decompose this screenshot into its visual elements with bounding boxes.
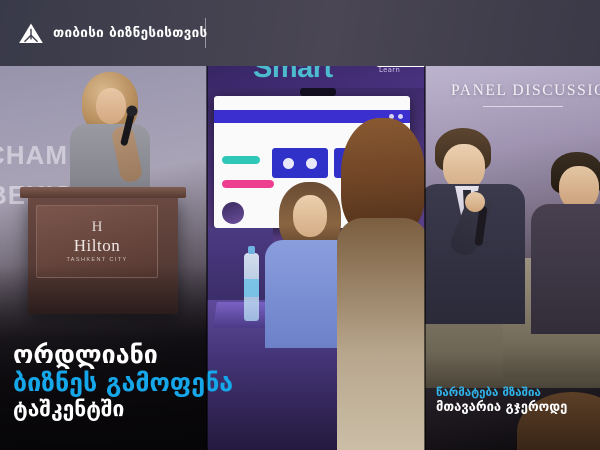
panel-discussion: PANEL DISCUSSIO წარმატება მზაშია მთავარი… — [425, 0, 600, 450]
speaker-face — [96, 88, 126, 124]
screen-avatar — [222, 202, 244, 224]
hilton-h-monogram-icon: H — [92, 220, 103, 235]
panel-discussion-underline — [483, 106, 563, 107]
headline-line3: ტაშკენტში — [13, 397, 233, 422]
host-face — [293, 195, 327, 237]
tbc-brand-block[interactable]: თიბისი ბიზნესისთვის — [0, 22, 208, 45]
water-bottle — [244, 253, 259, 321]
header-divider-icon — [205, 18, 206, 48]
panel-seam-left — [206, 0, 208, 450]
visitor-coat — [337, 218, 425, 450]
panel-seam-right — [424, 0, 426, 450]
right-caption-line1: წარმატება მზაშია — [436, 385, 600, 399]
hilton-location: TASHKENT CITY — [66, 257, 127, 263]
panel-discussion-title: PANEL DISCUSSIO — [451, 82, 600, 100]
right-panel-caption: წარმატება მზაშია მთავარია გჯეროდე — [436, 385, 600, 416]
screen-card-left — [272, 148, 328, 178]
panel-expo-booth: SALES ASSOCIATION Smart — [207, 0, 425, 450]
headline-line1: ორდლიანი — [13, 341, 233, 369]
tbc-triangle-logo-icon — [18, 22, 44, 45]
headline-line2: ბიზნეს გამოფენა — [13, 369, 233, 397]
tbc-brand-label: თიბისი ბიზნესისთვის — [53, 25, 208, 41]
monitor-stand — [300, 88, 336, 96]
right-caption-line2: მთავარია გჯეროდე — [436, 400, 600, 416]
collage-stage: CHAM BEKIS H Hilton TASHKENT CITY — [0, 0, 600, 450]
hilton-brand-name: Hilton — [74, 236, 120, 256]
headline-block: ორდლიანი ბიზნეს გამოფენა ტაშკენტში — [13, 341, 233, 422]
qr-caption: Learn — [379, 66, 400, 74]
panelist-left-hand — [465, 192, 485, 212]
screen-pill-teal — [222, 156, 260, 164]
panelist-left-figure — [425, 128, 529, 318]
panelist-right-figure — [531, 152, 600, 322]
brand-header-bar: თიბისი ბიზნესისთვის — [0, 0, 600, 66]
panelist-right-suit — [531, 204, 600, 334]
booth-visitor-figure — [337, 118, 425, 450]
background-screen-text-line1: CHAM — [0, 140, 68, 171]
